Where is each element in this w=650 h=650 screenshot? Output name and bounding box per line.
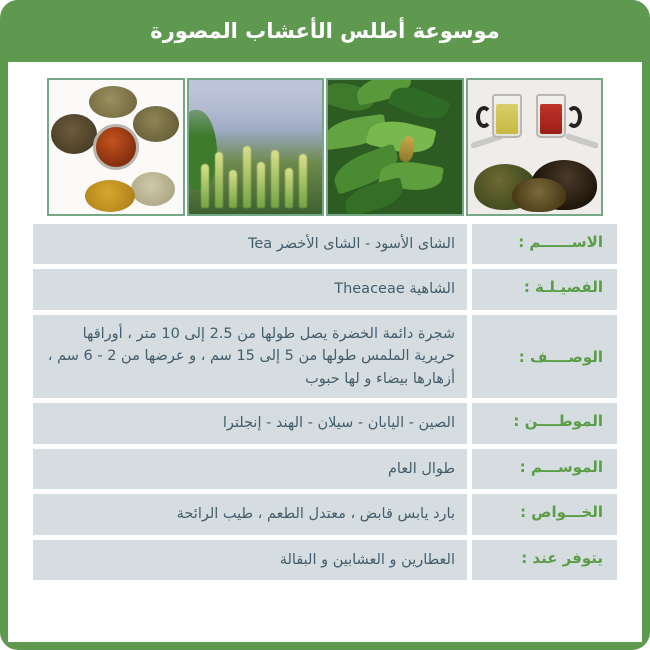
table-row: الموطــــن : الصين - اليابان - سيلان - ا…: [33, 403, 617, 443]
row-value-family: الشاهية Theaceae: [33, 269, 467, 309]
row-label-properties: الخـــواص :: [472, 494, 617, 534]
tea-shoot-shape: [299, 154, 307, 208]
row-label-description: الوصــــف :: [472, 315, 617, 398]
table-row: الاســــــم : الشاى الأسود - الشاى الأخض…: [33, 224, 617, 264]
table-row: الوصــــف : شجرة دائمة الخضرة يصل طولها …: [33, 315, 617, 398]
row-value-season: طوال العام: [33, 449, 467, 489]
plant-info-table: الاســــــم : الشاى الأسود - الشاى الأخض…: [33, 224, 617, 580]
row-value-availability: العطارين و العشابين و البقالة: [33, 540, 467, 580]
spoon-right-shape: [565, 133, 599, 149]
green-tea-cup-shape: [492, 94, 522, 138]
row-value-description: شجرة دائمة الخضرة يصل طولها من 2.5 إلى 1…: [33, 315, 467, 398]
gallery-image-tea-plantation-shoots[interactable]: [187, 78, 325, 216]
mixed-tea-pile-shape: [512, 178, 566, 212]
table-row: يتوفر عند : العطارين و العشابين و البقال…: [33, 540, 617, 580]
header-bar: موسوعة أطلس الأعشاب المصورة: [8, 0, 642, 62]
tea-shoot-shape: [271, 150, 279, 208]
tea-shoot-shape: [215, 152, 223, 208]
row-label-season: الموســـم :: [472, 449, 617, 489]
dried-tea-mound-shape: [85, 180, 135, 212]
cup-handle-left-shape: [476, 106, 492, 128]
dried-tea-mound-shape: [51, 114, 97, 154]
row-value-properties: بارد يابس قابض ، معتدل الطعم ، طيب الرائ…: [33, 494, 467, 534]
gallery-image-green-tea-leaves-closeup[interactable]: [326, 78, 464, 216]
dried-tea-mound-shape: [131, 172, 175, 206]
row-label-availability: يتوفر عند :: [472, 540, 617, 580]
dried-tea-mound-shape: [89, 86, 137, 118]
table-row: الفصيـلـة : الشاهية Theaceae: [33, 269, 617, 309]
row-label-habitat: الموطــــن :: [472, 403, 617, 443]
tea-shoot-shape: [229, 170, 237, 208]
row-value-habitat: الصين - اليابان - سيلان - الهند - إنجلتر…: [33, 403, 467, 443]
gallery-image-tea-cups-and-loose-leaves[interactable]: [466, 78, 604, 216]
gallery-image-dried-tea-varieties-with-cup[interactable]: [47, 78, 185, 216]
dried-tea-mound-shape: [133, 106, 179, 142]
tea-shoot-shape: [243, 146, 251, 208]
tea-shoot-shape: [285, 168, 293, 208]
table-row: الموســـم : طوال العام: [33, 449, 617, 489]
black-tea-cup-shape: [536, 94, 566, 138]
brewed-tea-cup-shape: [93, 124, 139, 170]
cup-handle-right-shape: [566, 106, 582, 128]
table-row: الخـــواص : بارد يابس قابض ، معتدل الطعم…: [33, 494, 617, 534]
tea-shoot-shape: [257, 162, 265, 208]
image-gallery: [47, 78, 603, 216]
page-frame: موسوعة أطلس الأعشاب المصورة: [0, 0, 650, 650]
sky-haze-shape: [189, 80, 323, 136]
content-body: الاســــــم : الشاى الأسود - الشاى الأخض…: [8, 62, 642, 642]
row-label-name: الاســــــم :: [472, 224, 617, 264]
row-label-family: الفصيـلـة :: [472, 269, 617, 309]
row-value-name: الشاى الأسود - الشاى الأخضر Tea: [33, 224, 467, 264]
page-title: موسوعة أطلس الأعشاب المصورة: [150, 19, 499, 43]
tea-shoot-shape: [201, 164, 209, 208]
